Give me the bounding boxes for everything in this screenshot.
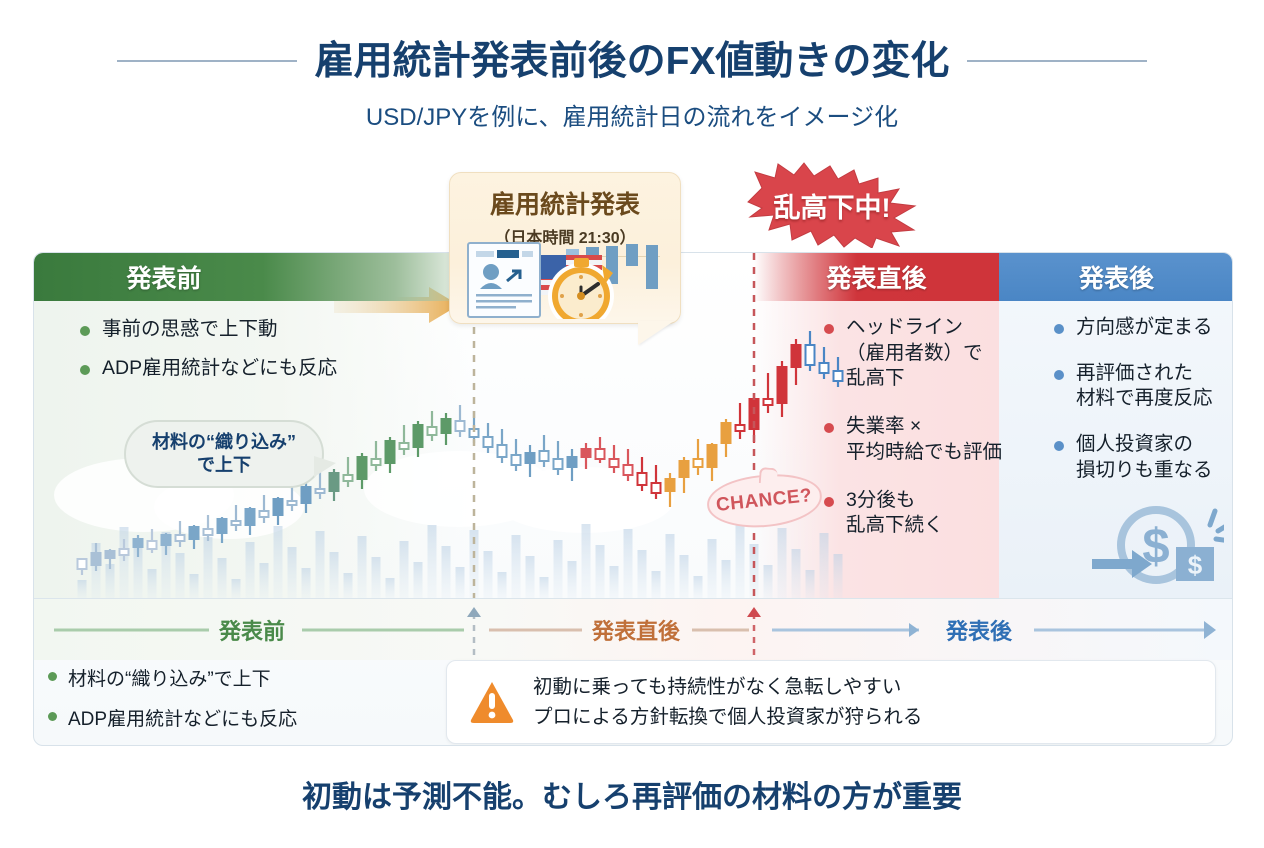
warning-line1: 初動に乗っても持続性がなく急転しやすい (533, 672, 922, 702)
title-row: 雇用統計発表前後のFX値動きの変化 (0, 34, 1264, 88)
footer-conclusion: 初動は予測不能。むしろ再評価の材料の方が重要 (0, 772, 1264, 816)
bullet-dot-icon (1054, 441, 1064, 451)
speech-bubble-line1: 材料の“織り込み” (152, 431, 296, 454)
svg-text:$: $ (1188, 550, 1203, 580)
list-item-label: 乱高下 (846, 366, 1039, 392)
timeline-arrow-end-icon (1204, 621, 1216, 639)
list-item-label: 材料の“織り込み”で上下 (68, 669, 271, 690)
list-item-label: 事前の思惑で上下動 (102, 318, 278, 340)
announcement-icon-group (450, 241, 682, 319)
list-item-label: 平均時給でも評価 (846, 440, 1039, 466)
bottom-row: 材料の“織り込み”で上下 ADP雇用統計などにも反応 初動に乗っても持続性がなく… (34, 660, 1233, 746)
announcement-title: 雇用統計発表 (450, 185, 680, 221)
bullet-dot-icon (824, 423, 834, 433)
list-item: 材料の“織り込み”で上下 (48, 664, 448, 691)
announcement-callout: 雇用統計発表 （日本時間 21:30） (449, 172, 681, 324)
bottom-left-list: 材料の“織り込み”で上下 ADP雇用統計などにも反応 (48, 664, 448, 744)
timeline-up-arrow-2-icon (747, 607, 761, 617)
timeline-label-before: 発表前 (219, 614, 285, 646)
timeline-strip: 発表前 発表直後 発表後 (34, 598, 1233, 660)
warning-text: 初動に乗っても持続性がなく急転しやすい プロによる方針転換で個人投資家が狩られる (533, 672, 922, 732)
list-item: 個人投資家の 損切りも重なる (1054, 432, 1233, 483)
main-frame: 発表前 発表直後 発表後 事前の思惑で上下動 ADP雇用統計などにも反応 ヘッド… (33, 252, 1233, 746)
report-document-icon (468, 243, 540, 317)
speech-bubble-line2: で上下 (152, 454, 296, 477)
column-header-after-label: 発表後 (1079, 259, 1154, 295)
bullet-dot-icon (1054, 370, 1064, 380)
list-item: 事前の思惑で上下動 (80, 317, 440, 343)
list-item: 方向感が定まる (1054, 315, 1233, 341)
column-header-before-label: 発表前 (126, 259, 201, 295)
column-header-before: 発表前 (34, 253, 474, 301)
warning-box: 初動に乗っても持続性がなく急転しやすい プロによる方針転換で個人投資家が狩られる (446, 660, 1216, 744)
list-item: 再評価された 材料で再度反応 (1054, 361, 1233, 412)
column-header-just-after-label: 発表直後 (826, 259, 926, 295)
burst-badge: 乱高下中! (742, 162, 922, 248)
list-item-label: 失業率 × (846, 414, 1039, 440)
list-item-label: ヘッドライン (846, 315, 1039, 341)
column-header-just-after: 発表直後 (754, 253, 999, 301)
list-item-label: 乱高下続く (846, 513, 1039, 539)
title-rule-left (117, 60, 297, 62)
list-item-label: （雇用者数）で (846, 341, 1039, 367)
dollar-coin-icon: $ $ (1084, 503, 1224, 593)
list-item: ADP雇用統計などにも反応 (80, 356, 440, 382)
after-bullet-list: 方向感が定まる 再評価された 材料で再度反応 個人投資家の 損切りも重なる (1054, 315, 1233, 504)
timeline-label-after: 発表後 (946, 614, 1012, 646)
list-item-label: 材料で再度反応 (1076, 386, 1233, 412)
list-item-label: 再評価された (1076, 361, 1233, 387)
list-item-label: 個人投資家の (1076, 432, 1233, 458)
page-title: 雇用統計発表前後のFX値動きの変化 (315, 42, 950, 81)
speech-bubble-orikomi: 材料の“織り込み” で上下 (124, 420, 324, 488)
chance-badge-label: CHANCE? (715, 485, 813, 517)
bullet-dot-icon (1054, 324, 1064, 334)
bullet-dot-icon (48, 712, 57, 721)
bullet-dot-icon (824, 497, 834, 507)
list-item: 3分後も 乱高下続く (824, 488, 1039, 539)
list-item-label: 損切りも重なる (1076, 458, 1233, 484)
timeline-arrow-mid-icon (909, 623, 919, 637)
bullet-dot-icon (80, 326, 90, 336)
before-bullet-list: 事前の思惑で上下動 ADP雇用統計などにも反応 (80, 317, 440, 394)
timeline-label-just-after: 発表直後 (592, 614, 680, 646)
burst-label: 乱高下中! (742, 162, 922, 248)
warning-triangle-icon (469, 680, 515, 724)
page-subtitle: USD/JPYを例に、雇用統計日の流れをイメージ化 (0, 97, 1264, 132)
list-item-label: ADP雇用統計などにも反応 (102, 357, 337, 379)
list-item-label: 方向感が定まる (1076, 315, 1233, 341)
title-rule-right (967, 60, 1147, 62)
list-item: ADP雇用統計などにも反応 (48, 704, 448, 731)
list-item: ヘッドライン （雇用者数）で 乱高下 (824, 315, 1039, 392)
list-item-label: 3分後も (846, 488, 1039, 514)
column-header-after: 発表後 (999, 253, 1233, 301)
timeline-up-arrow-1-icon (467, 607, 481, 617)
just-after-bullet-list: ヘッドライン （雇用者数）で 乱高下 失業率 × 平均時給でも評価 3分後も 乱… (824, 315, 1039, 561)
warning-line2: プロによる方針転換で個人投資家が狩られる (533, 702, 922, 732)
bullet-dot-icon (824, 324, 834, 334)
list-item-label: ADP雇用統計などにも反応 (68, 709, 297, 730)
list-item: 失業率 × 平均時給でも評価 (824, 414, 1039, 465)
bullet-dot-icon (80, 365, 90, 375)
bullet-dot-icon (48, 672, 57, 681)
